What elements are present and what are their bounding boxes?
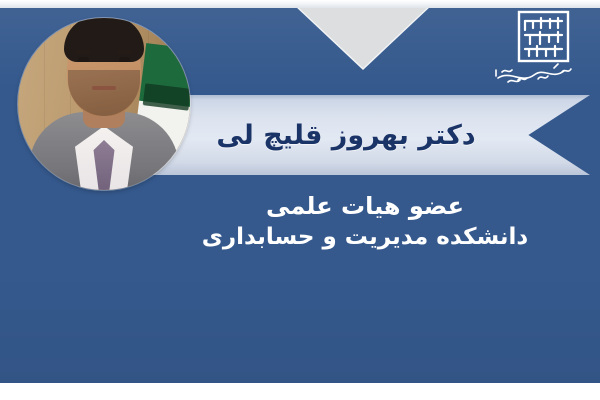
portrait-hair [64, 18, 144, 62]
portrait-brow-left [76, 50, 91, 54]
person-name: دکتر بهروز قلیچ لی [216, 120, 475, 151]
name-ribbon-inner: دکتر بهروز قلیچ لی [150, 95, 590, 175]
person-title: عضو هیات علمی [200, 190, 530, 222]
portrait-eye-right [119, 57, 130, 62]
portrait-mouth [92, 86, 116, 90]
avatar [18, 18, 190, 190]
name-ribbon-banner: دکتر بهروز قلیچ لی [150, 95, 590, 175]
shahid-beheshti-university-logo-icon [488, 6, 584, 90]
portrait-brow-right [117, 50, 132, 54]
flag-script-band [143, 83, 190, 110]
bottom-white-band [0, 383, 600, 400]
person-subtitle-block: عضو هیات علمی دانشکده مدیریت و حسابداری [200, 190, 530, 253]
faculty-profile-card: دکتر بهروز قلیچ لی عضو هیات علمی دانشکده… [0, 0, 600, 400]
portrait-eye-left [78, 57, 89, 62]
person-department: دانشکده مدیریت و حسابداری [200, 222, 530, 253]
